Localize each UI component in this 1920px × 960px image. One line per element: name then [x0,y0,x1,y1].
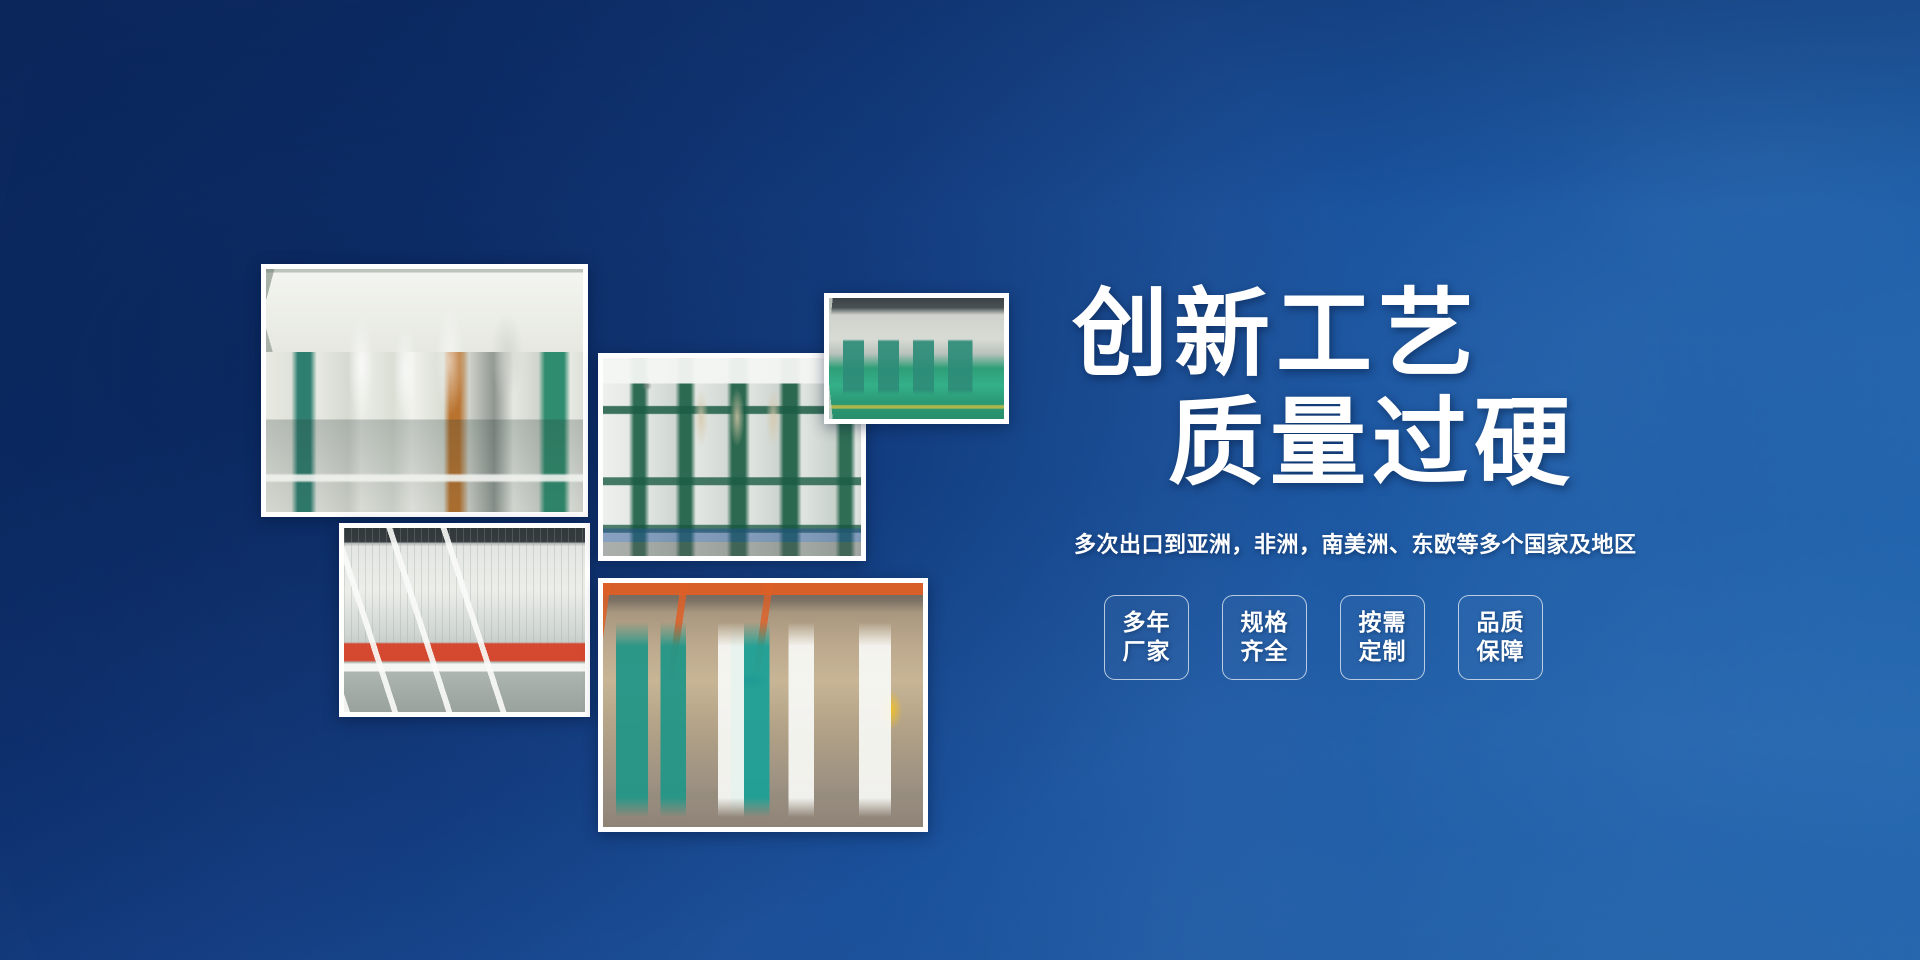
badge-line-2: 齐全 [1241,637,1289,666]
badge-line-1: 规格 [1241,608,1289,637]
headline-line-2: 质量过硬 [1060,389,1670,498]
badge-line-2: 厂家 [1123,637,1171,666]
subtitle: 多次出口到亚洲，非洲，南美洲、东欧等多个国家及地区 [1060,527,1670,559]
badge-quality-guarantee[interactable]: 品质 保障 [1458,595,1543,680]
badge-line-1: 按需 [1359,608,1407,637]
photo-image [266,269,583,512]
banner-text-block: 创新工艺 质量过硬 多次出口到亚洲，非洲，南美洲、东欧等多个国家及地区 多年 厂… [1060,280,1670,680]
photo-image [344,528,585,712]
badge-years-manufacturer[interactable]: 多年 厂家 [1104,595,1189,680]
badge-full-specifications[interactable]: 规格 齐全 [1222,595,1307,680]
photo-image [603,583,923,827]
promotional-banner: 创新工艺 质量过硬 多次出口到亚洲，非洲，南美洲、东欧等多个国家及地区 多年 厂… [0,0,1920,960]
photo-image [829,298,1004,419]
photo-image [603,358,861,556]
badge-line-1: 多年 [1123,608,1171,637]
photo-white-line-red-conveyor [339,523,590,717]
headline: 创新工艺 质量过硬 [1060,280,1670,499]
badge-line-2: 定制 [1359,637,1407,666]
badge-custom-made[interactable]: 按需 定制 [1340,595,1425,680]
badge-line-2: 保障 [1477,637,1525,666]
photo-teal-machines-green-floor [824,293,1009,424]
photo-grey-pneumatic-milling-line [261,264,588,517]
headline-line-1: 创新工艺 [1060,280,1670,389]
feature-badge-row: 多年 厂家 规格 齐全 按需 定制 品质 保障 [1060,595,1670,680]
photo-teal-mills-orange-beams [598,578,928,832]
badge-line-1: 品质 [1477,608,1525,637]
